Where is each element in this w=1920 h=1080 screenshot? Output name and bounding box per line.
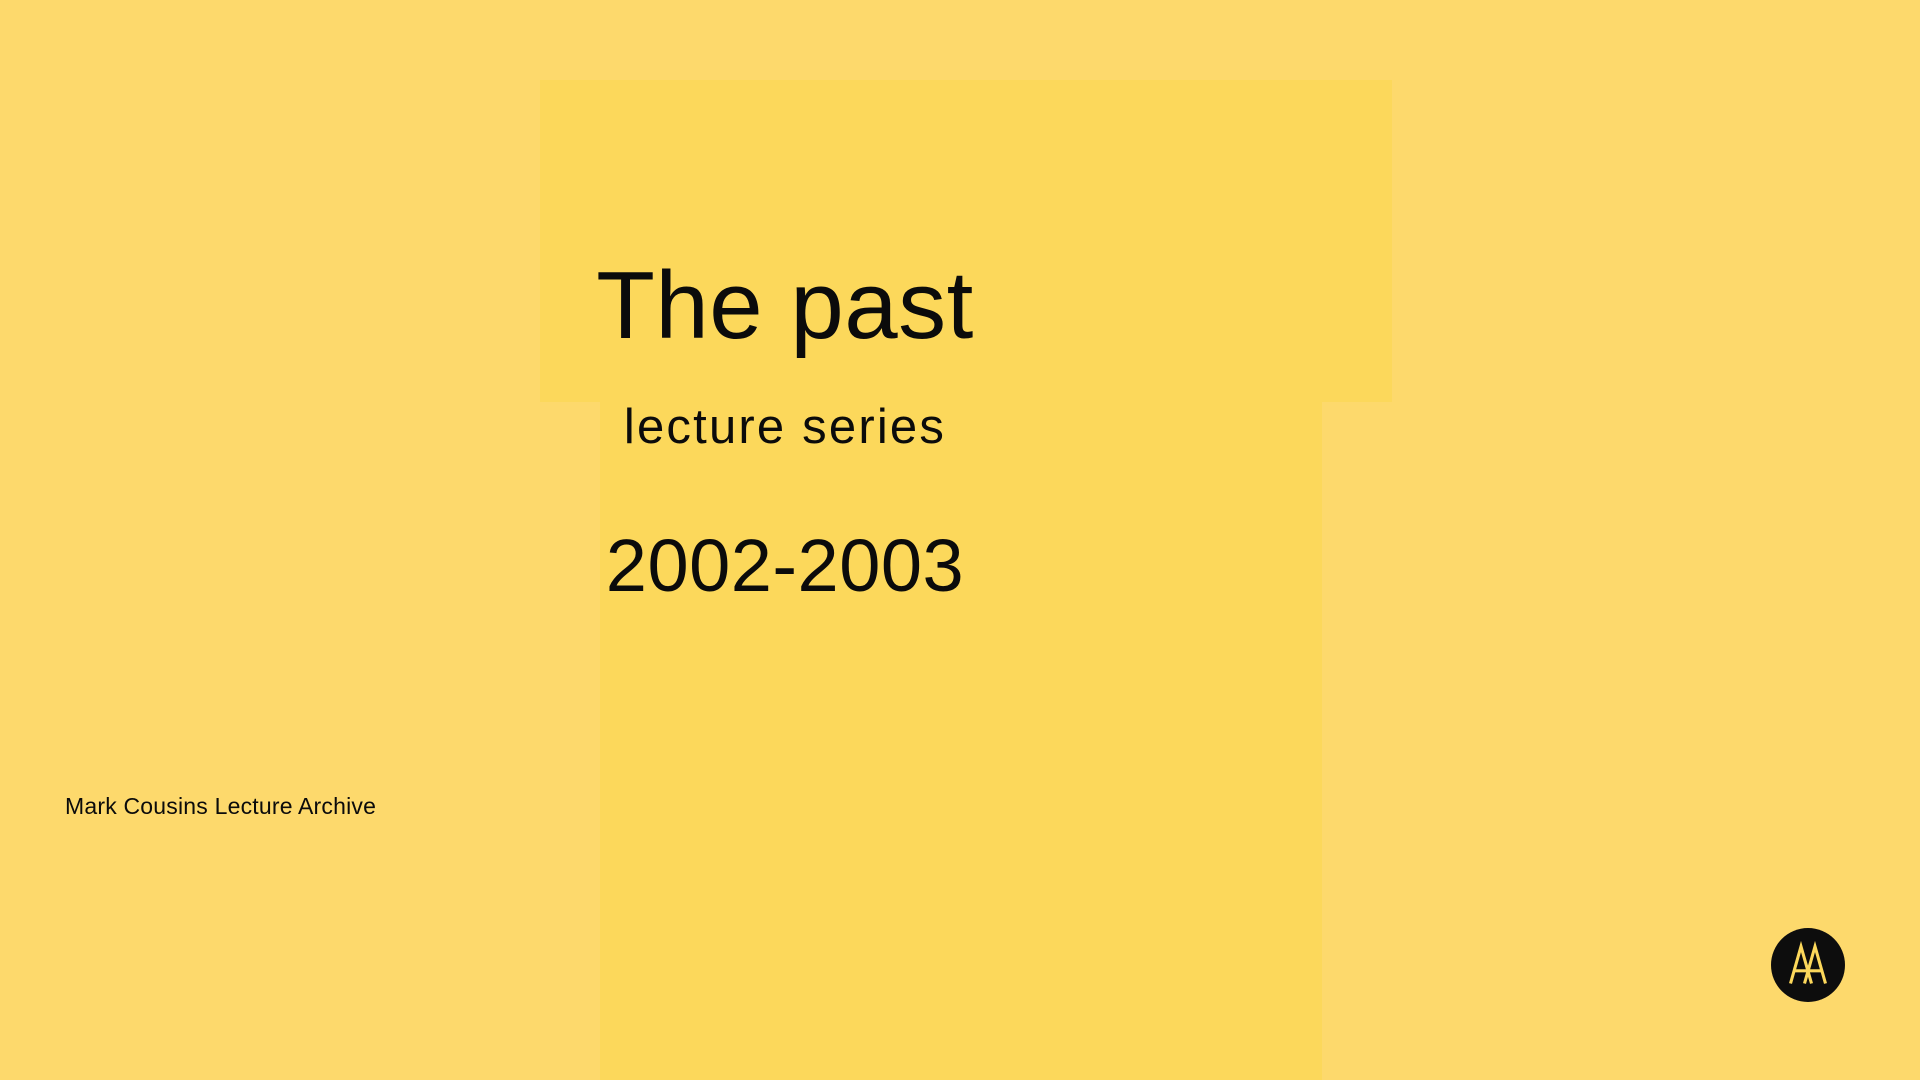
presentation-slide: The past lecture series 2002-2003 Mark C…: [0, 0, 1920, 1080]
decorative-block-upper: [540, 80, 1392, 402]
decorative-block-lower: [600, 402, 1322, 1080]
aa-logo: [1771, 928, 1845, 1002]
aa-logo-icon: [1771, 928, 1845, 1002]
logo-disc: [1771, 928, 1845, 1002]
archive-credit: Mark Cousins Lecture Archive: [65, 793, 376, 821]
